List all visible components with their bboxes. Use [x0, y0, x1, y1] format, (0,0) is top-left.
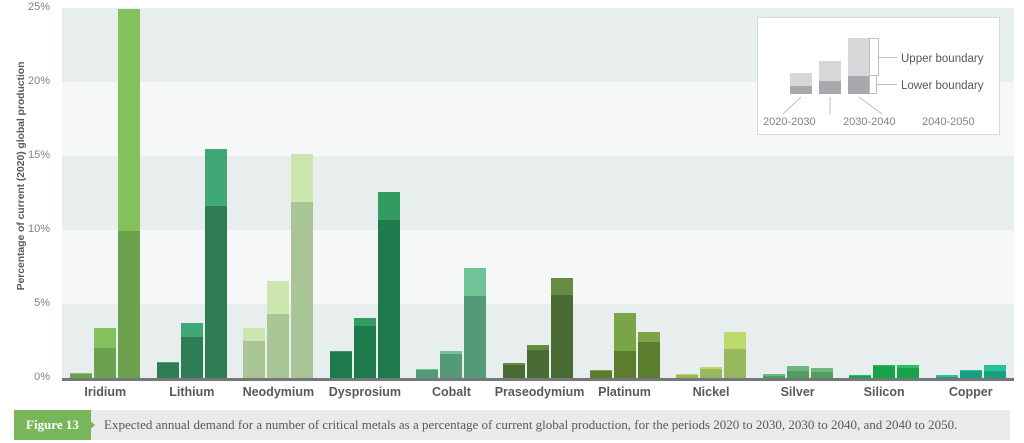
bar-lower-segment: [464, 296, 486, 378]
legend-period-label-1: 2030-2040: [843, 116, 896, 128]
bar-lower-segment: [267, 314, 289, 378]
bar-group-iridium: [70, 8, 140, 378]
bar-lower-segment: [378, 220, 400, 378]
x-axis-label-iridium: Iridium: [62, 385, 149, 399]
bar-cobalt-2020-2030[interactable]: [416, 369, 438, 378]
bar-lithium-2030-2040[interactable]: [181, 323, 203, 378]
legend-period-label-0: 2020-2030: [763, 116, 816, 128]
x-axis-label-lithium: Lithium: [149, 385, 236, 399]
x-axis-labels: IridiumLithiumNeodymiumDysprosiumCobaltP…: [62, 385, 1014, 405]
bar-lower-segment: [181, 337, 203, 378]
bar-neodymium-2030-2040[interactable]: [267, 281, 289, 378]
bar-platinum-2040-2050[interactable]: [638, 332, 660, 378]
bar-upper-segment: [243, 328, 265, 341]
bar-upper-segment: [590, 370, 612, 371]
bar-group-nickel: [676, 8, 746, 378]
x-axis-label-praseodymium: Praseodymium: [495, 385, 582, 399]
bar-platinum-2020-2030[interactable]: [590, 370, 612, 378]
bar-praseodymium-2020-2030[interactable]: [503, 363, 525, 378]
y-axis-tick-label: 0%: [0, 371, 50, 383]
y-axis-labels: 0%5%10%15%20%25%: [0, 0, 56, 405]
bar-copper-2040-2050[interactable]: [984, 365, 1006, 378]
bar-cobalt-2030-2040[interactable]: [440, 351, 462, 378]
bar-copper-2030-2040[interactable]: [960, 370, 982, 378]
bar-upper-segment: [984, 365, 1006, 371]
bar-lower-segment: [527, 350, 549, 378]
bar-iridium-2030-2040[interactable]: [94, 328, 116, 378]
bar-upper-segment: [700, 367, 722, 369]
bar-neodymium-2020-2030[interactable]: [243, 328, 265, 378]
bar-cobalt-2040-2050[interactable]: [464, 268, 486, 378]
bar-upper-segment: [267, 281, 289, 314]
bar-upper-segment: [291, 154, 313, 202]
bar-lower-segment: [205, 206, 227, 378]
bar-group-dysprosium: [330, 8, 400, 378]
bar-dysprosium-2030-2040[interactable]: [354, 318, 376, 378]
bar-upper-segment: [614, 313, 636, 351]
bar-upper-segment: [676, 374, 698, 375]
bar-upper-segment: [440, 351, 462, 354]
bar-iridium-2040-2050[interactable]: [118, 9, 140, 378]
bar-upper-segment: [503, 363, 525, 364]
bar-nickel-2030-2040[interactable]: [700, 367, 722, 378]
bar-upper-segment: [416, 369, 438, 370]
bar-lower-segment: [291, 202, 313, 378]
bar-upper-segment: [118, 9, 140, 231]
bar-upper-segment: [464, 268, 486, 296]
bar-upper-segment: [849, 375, 871, 376]
bar-upper-segment: [551, 278, 573, 295]
x-axis-label-nickel: Nickel: [668, 385, 755, 399]
bar-upper-segment: [897, 365, 919, 368]
bar-lower-segment: [960, 371, 982, 378]
x-axis-label-silicon: Silicon: [841, 385, 928, 399]
y-axis-tick-label: 25%: [0, 1, 50, 13]
bar-silicon-2040-2050[interactable]: [897, 365, 919, 378]
legend-period-label-2: 2040-2050: [922, 116, 975, 128]
bar-group-lithium: [157, 8, 227, 378]
bar-lower-segment: [440, 354, 462, 378]
x-axis-label-silver: Silver: [754, 385, 841, 399]
chart-area: 0%5%10%15%20%25% Percentage of current (…: [0, 0, 1024, 405]
bar-upper-segment: [354, 318, 376, 326]
bar-upper-segment: [763, 374, 785, 375]
y-axis-title: Percentage of current (2020) global prod…: [15, 51, 27, 301]
bar-upper-segment: [205, 149, 227, 207]
bar-lower-segment: [638, 342, 660, 378]
bar-lower-segment: [157, 362, 179, 378]
bar-lower-segment: [873, 366, 895, 378]
bar-silver-2040-2050[interactable]: [811, 368, 833, 378]
bar-upper-segment: [638, 332, 660, 342]
bar-lower-segment: [614, 351, 636, 378]
figure-container: 0%5%10%15%20%25% Percentage of current (…: [0, 0, 1024, 443]
x-axis-baseline: [62, 378, 1014, 381]
legend-box: Upper boundary Lower boundary 2020-2030 …: [757, 17, 1000, 135]
bar-lower-segment: [897, 368, 919, 378]
bar-upper-segment: [378, 192, 400, 220]
bar-dysprosium-2020-2030[interactable]: [330, 351, 352, 378]
bar-upper-segment: [157, 362, 179, 363]
bar-lower-segment: [330, 352, 352, 378]
bar-group-praseodymium: [503, 8, 573, 378]
bar-upper-segment: [811, 368, 833, 372]
bar-lower-segment: [984, 371, 1006, 378]
bar-praseodymium-2040-2050[interactable]: [551, 278, 573, 378]
x-axis-label-neodymium: Neodymium: [235, 385, 322, 399]
x-axis-label-copper: Copper: [927, 385, 1014, 399]
bar-lower-segment: [94, 348, 116, 378]
bar-lower-segment: [118, 231, 140, 378]
bar-upper-segment: [181, 323, 203, 336]
bar-lower-segment: [243, 341, 265, 378]
bar-lower-segment: [551, 295, 573, 378]
bar-lower-segment: [700, 369, 722, 378]
bar-lower-segment: [416, 370, 438, 378]
bar-group-neodymium: [243, 8, 313, 378]
x-axis-label-cobalt: Cobalt: [408, 385, 495, 399]
bar-group-cobalt: [416, 8, 486, 378]
bar-lower-segment: [787, 371, 809, 378]
bar-group-platinum: [590, 8, 660, 378]
bar-silver-2030-2040[interactable]: [787, 366, 809, 378]
bar-lithium-2020-2030[interactable]: [157, 362, 179, 378]
bar-nickel-2040-2050[interactable]: [724, 332, 746, 378]
figure-badge-arrow: [86, 417, 95, 433]
bar-upper-segment: [936, 375, 958, 376]
bar-lower-segment: [724, 349, 746, 378]
bar-lower-segment: [354, 326, 376, 378]
bar-upper-segment: [70, 373, 92, 374]
x-axis-label-dysprosium: Dysprosium: [322, 385, 409, 399]
bar-neodymium-2040-2050[interactable]: [291, 154, 313, 378]
x-axis-label-platinum: Platinum: [581, 385, 668, 399]
bar-upper-segment: [330, 351, 352, 352]
bar-lower-segment: [503, 365, 525, 378]
bar-dysprosium-2040-2050[interactable]: [378, 192, 400, 378]
bar-platinum-2030-2040[interactable]: [614, 313, 636, 378]
bar-lower-segment: [590, 371, 612, 378]
bar-upper-segment: [527, 345, 549, 350]
bar-upper-segment: [960, 370, 982, 371]
bar-praseodymium-2030-2040[interactable]: [527, 345, 549, 378]
bar-lithium-2040-2050[interactable]: [205, 149, 227, 378]
figure-caption-text: Expected annual demand for a number of c…: [104, 410, 957, 440]
figure-number-badge: Figure 13: [14, 410, 91, 440]
bar-upper-segment: [787, 366, 809, 370]
bar-upper-segment: [724, 332, 746, 349]
bar-upper-segment: [94, 328, 116, 349]
bar-silicon-2030-2040[interactable]: [873, 365, 895, 378]
bar-upper-segment: [873, 365, 895, 366]
caption-bar: Figure 13 Expected annual demand for a n…: [0, 410, 1024, 440]
